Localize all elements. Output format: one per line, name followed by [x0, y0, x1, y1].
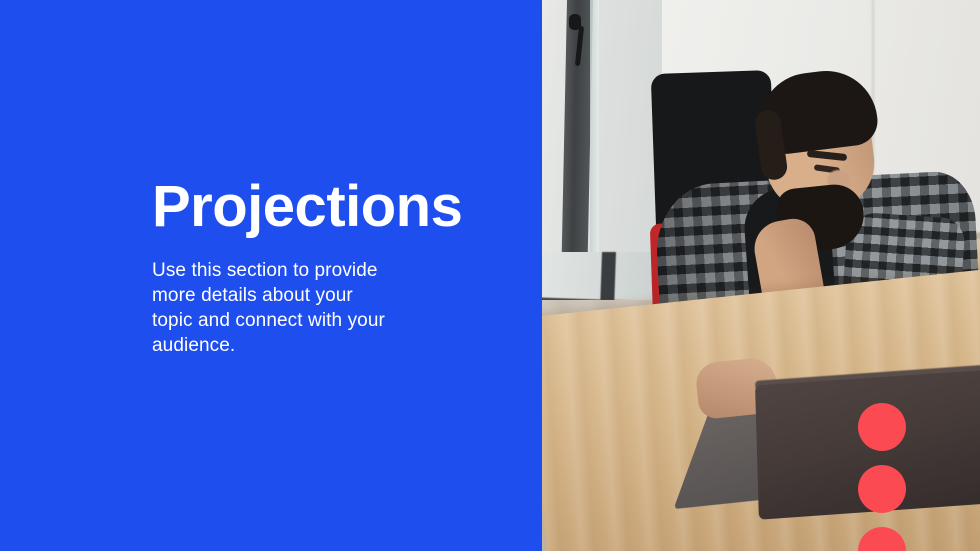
page-title: Projections	[152, 178, 452, 236]
accent-dot-2	[858, 465, 906, 513]
slide-photo	[542, 0, 980, 551]
blue-text-panel: Projections Use this section to provide …	[0, 0, 542, 551]
accent-dot-1	[858, 403, 906, 451]
text-block: Projections Use this section to provide …	[152, 178, 452, 358]
presentation-slide: Projections Use this section to provide …	[0, 0, 980, 551]
slide-body-text: Use this section to provide more details…	[152, 236, 392, 358]
